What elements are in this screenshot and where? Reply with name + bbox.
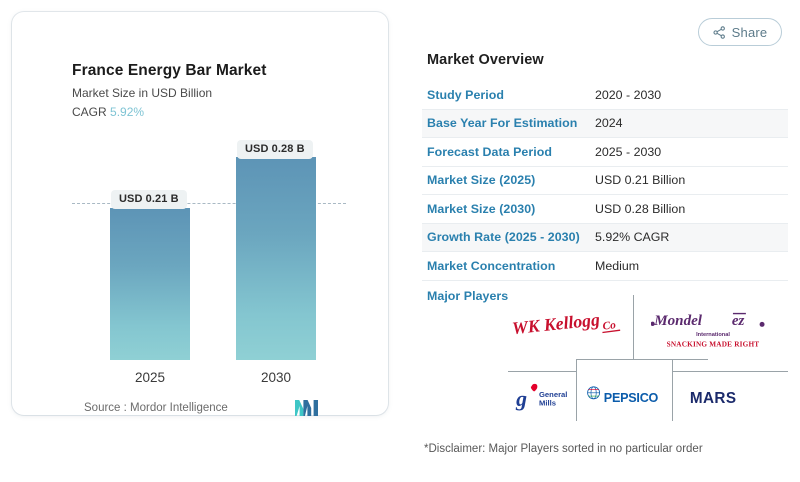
bar-chart-plot: USD 0.21 B USD 0.28 B 2025 2030 bbox=[12, 12, 388, 415]
svg-text:ez: ez bbox=[732, 312, 745, 328]
row-label: Forecast Data Period bbox=[427, 145, 595, 159]
table-row: Forecast Data Period 2025 - 2030 bbox=[422, 138, 788, 167]
table-row: Study Period 2020 - 2030 bbox=[422, 81, 788, 110]
bar-2030[interactable] bbox=[236, 157, 316, 360]
table-row: Growth Rate (2025 - 2030) 5.92% CAGR bbox=[422, 224, 788, 253]
svg-text:MARS: MARS bbox=[690, 390, 736, 407]
player-logo-wk-kellogg-co: WK Kellogg Co bbox=[510, 305, 630, 353]
x-axis-tick-2030: 2030 bbox=[236, 370, 316, 385]
bar-2025[interactable] bbox=[110, 208, 190, 360]
row-label: Market Concentration bbox=[427, 259, 595, 273]
svg-text:g: g bbox=[515, 387, 527, 411]
svg-text:SNACKING MADE RIGHT: SNACKING MADE RIGHT bbox=[667, 340, 760, 348]
row-label: Market Size (2030) bbox=[427, 202, 595, 216]
svg-text:WK Kellogg: WK Kellogg bbox=[511, 313, 601, 338]
table-row: Market Size (2030) USD 0.28 Billion bbox=[422, 195, 788, 224]
disclaimer-text: *Disclaimer: Major Players sorted in no … bbox=[424, 443, 703, 455]
grid-divider-horizontal bbox=[576, 359, 708, 360]
share-button[interactable]: Share bbox=[698, 18, 782, 46]
share-button-label: Share bbox=[732, 25, 768, 40]
grid-divider-horizontal bbox=[672, 371, 788, 372]
svg-text:Mondel: Mondel bbox=[653, 312, 703, 328]
chart-card: France Energy Bar Market Market Size in … bbox=[12, 12, 388, 415]
row-value: 5.92% CAGR bbox=[595, 230, 669, 244]
player-logo-mars: MARS bbox=[680, 377, 766, 417]
player-logo-general-mills: g General Mills bbox=[514, 375, 576, 419]
bar-label-2025: USD 0.21 B bbox=[111, 190, 187, 209]
grid-divider-vertical bbox=[576, 359, 577, 421]
row-value: 2025 - 2030 bbox=[595, 145, 661, 159]
market-overview-table: Study Period 2020 - 2030 Base Year For E… bbox=[422, 81, 788, 311]
table-row: Base Year For Estimation 2024 bbox=[422, 110, 788, 139]
row-label: Market Size (2025) bbox=[427, 173, 595, 187]
row-value: USD 0.21 Billion bbox=[595, 173, 685, 187]
grid-divider-vertical bbox=[672, 359, 673, 421]
row-value: USD 0.28 Billion bbox=[595, 202, 685, 216]
market-overview-title: Market Overview bbox=[427, 52, 544, 68]
row-label: Base Year For Estimation bbox=[427, 116, 595, 130]
source-label: Source : Mordor Intelligence bbox=[84, 402, 228, 414]
row-value: Medium bbox=[595, 259, 639, 273]
row-value: 2024 bbox=[595, 116, 623, 130]
x-axis-tick-2025: 2025 bbox=[110, 370, 190, 385]
major-players-logo-grid: WK Kellogg Co Mondel ez International SN… bbox=[508, 297, 788, 425]
svg-text:General: General bbox=[539, 389, 567, 398]
svg-text:PEPSICO: PEPSICO bbox=[604, 391, 659, 405]
player-logo-pepsico: PEPSICO bbox=[584, 377, 668, 417]
bar-label-2030: USD 0.28 B bbox=[237, 140, 313, 159]
svg-text:International: International bbox=[696, 332, 730, 338]
player-logo-mondelez-international: Mondel ez International SNACKING MADE RI… bbox=[640, 301, 786, 357]
market-snapshot-page: Share France Energy Bar Market Market Si… bbox=[0, 0, 800, 482]
svg-text:Mills: Mills bbox=[539, 398, 556, 407]
grid-divider-horizontal bbox=[508, 371, 576, 372]
mordor-intelligence-logo bbox=[295, 400, 321, 416]
row-value: 2020 - 2030 bbox=[595, 88, 661, 102]
row-label: Growth Rate (2025 - 2030) bbox=[427, 230, 595, 244]
row-label: Study Period bbox=[427, 88, 595, 102]
share-nodes-icon bbox=[713, 26, 726, 39]
grid-divider-vertical bbox=[633, 295, 634, 359]
table-row: Market Size (2025) USD 0.21 Billion bbox=[422, 167, 788, 196]
table-row: Market Concentration Medium bbox=[422, 252, 788, 281]
